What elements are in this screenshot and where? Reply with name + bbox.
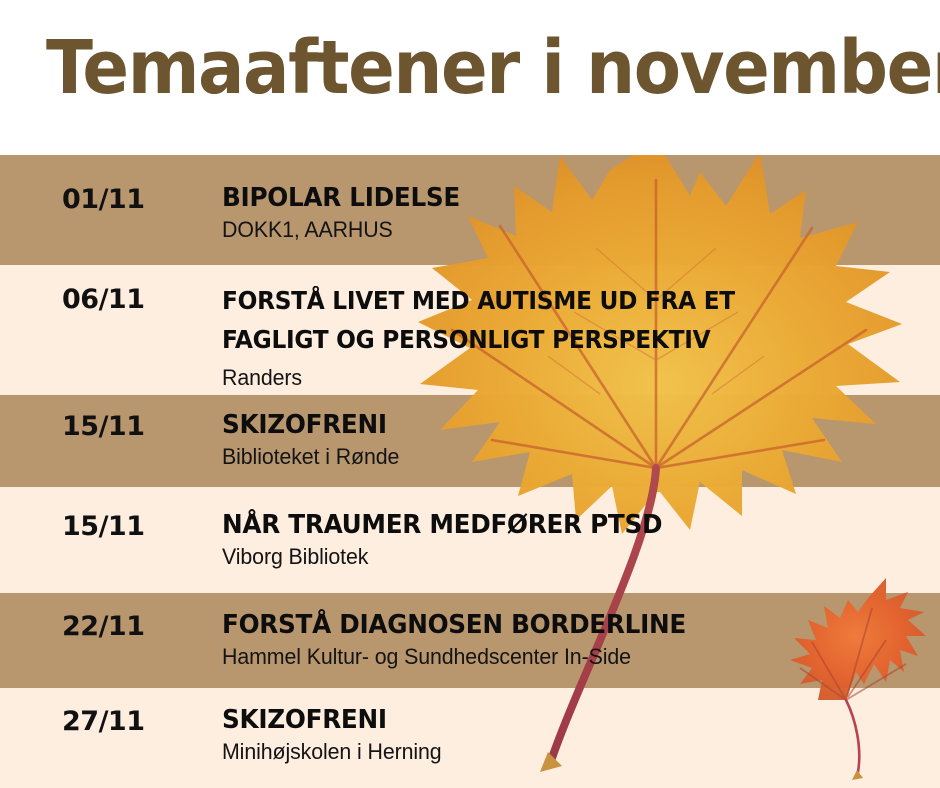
row-venue: Randers [222, 363, 901, 393]
row-body: SKIZOFRENI Minihøjskolen i Herning [222, 703, 922, 767]
row-venue: Viborg Bibliotek [222, 542, 901, 572]
row-title: BIPOLAR LIDELSE [222, 181, 887, 215]
row-title-line-2: FAGLIGT OG PERSONLIGT PERSPEKTIV [222, 320, 873, 359]
row-date: 15/11 [62, 512, 145, 542]
schedule-row-4[interactable]: 15/11 NÅR TRAUMER MEDFØRER PTSD Viborg B… [0, 487, 940, 593]
schedule-row-3[interactable]: 15/11 SKIZOFRENI Biblioteket i Rønde [0, 395, 940, 487]
row-body: FORSTÅ LIVET MED AUTISME UD FRA ET FAGLI… [222, 281, 922, 393]
schedule-row-5[interactable]: 22/11 FORSTÅ DIAGNOSEN BORDERLINE Hammel… [0, 593, 940, 688]
row-body: NÅR TRAUMER MEDFØRER PTSD Viborg Bibliot… [222, 508, 922, 572]
row-title: SKIZOFRENI [222, 703, 887, 737]
schedule-row-2[interactable]: 06/11 FORSTÅ LIVET MED AUTISME UD FRA ET… [0, 265, 940, 395]
page-title: Temaaftener i november [46, 26, 940, 110]
row-venue: DOKK1, AARHUS [222, 215, 901, 245]
row-venue: Hammel Kultur- og Sundhedscenter In-Side [222, 642, 901, 672]
row-title: FORSTÅ DIAGNOSEN BORDERLINE [222, 608, 887, 642]
row-date: 22/11 [62, 612, 145, 642]
schedule-row-6[interactable]: 27/11 SKIZOFRENI Minihøjskolen i Herning [0, 688, 940, 788]
row-date: 15/11 [62, 412, 145, 442]
row-title-line-1: FORSTÅ LIVET MED AUTISME UD FRA ET [222, 281, 873, 320]
row-date: 01/11 [62, 185, 145, 215]
row-body: FORSTÅ DIAGNOSEN BORDERLINE Hammel Kultu… [222, 608, 922, 672]
row-date: 06/11 [62, 285, 145, 315]
row-date: 27/11 [62, 707, 145, 737]
row-venue: Minihøjskolen i Herning [222, 737, 901, 767]
poster: Temaaftener i november 01/11 BIPOLAR LID… [0, 0, 940, 788]
row-title: SKIZOFRENI [222, 408, 887, 442]
row-title: NÅR TRAUMER MEDFØRER PTSD [222, 508, 887, 542]
row-body: SKIZOFRENI Biblioteket i Rønde [222, 408, 922, 472]
row-body: BIPOLAR LIDELSE DOKK1, AARHUS [222, 181, 922, 245]
row-venue: Biblioteket i Rønde [222, 442, 901, 472]
poster-header: Temaaftener i november [0, 0, 940, 155]
schedule-row-1[interactable]: 01/11 BIPOLAR LIDELSE DOKK1, AARHUS [0, 155, 940, 265]
